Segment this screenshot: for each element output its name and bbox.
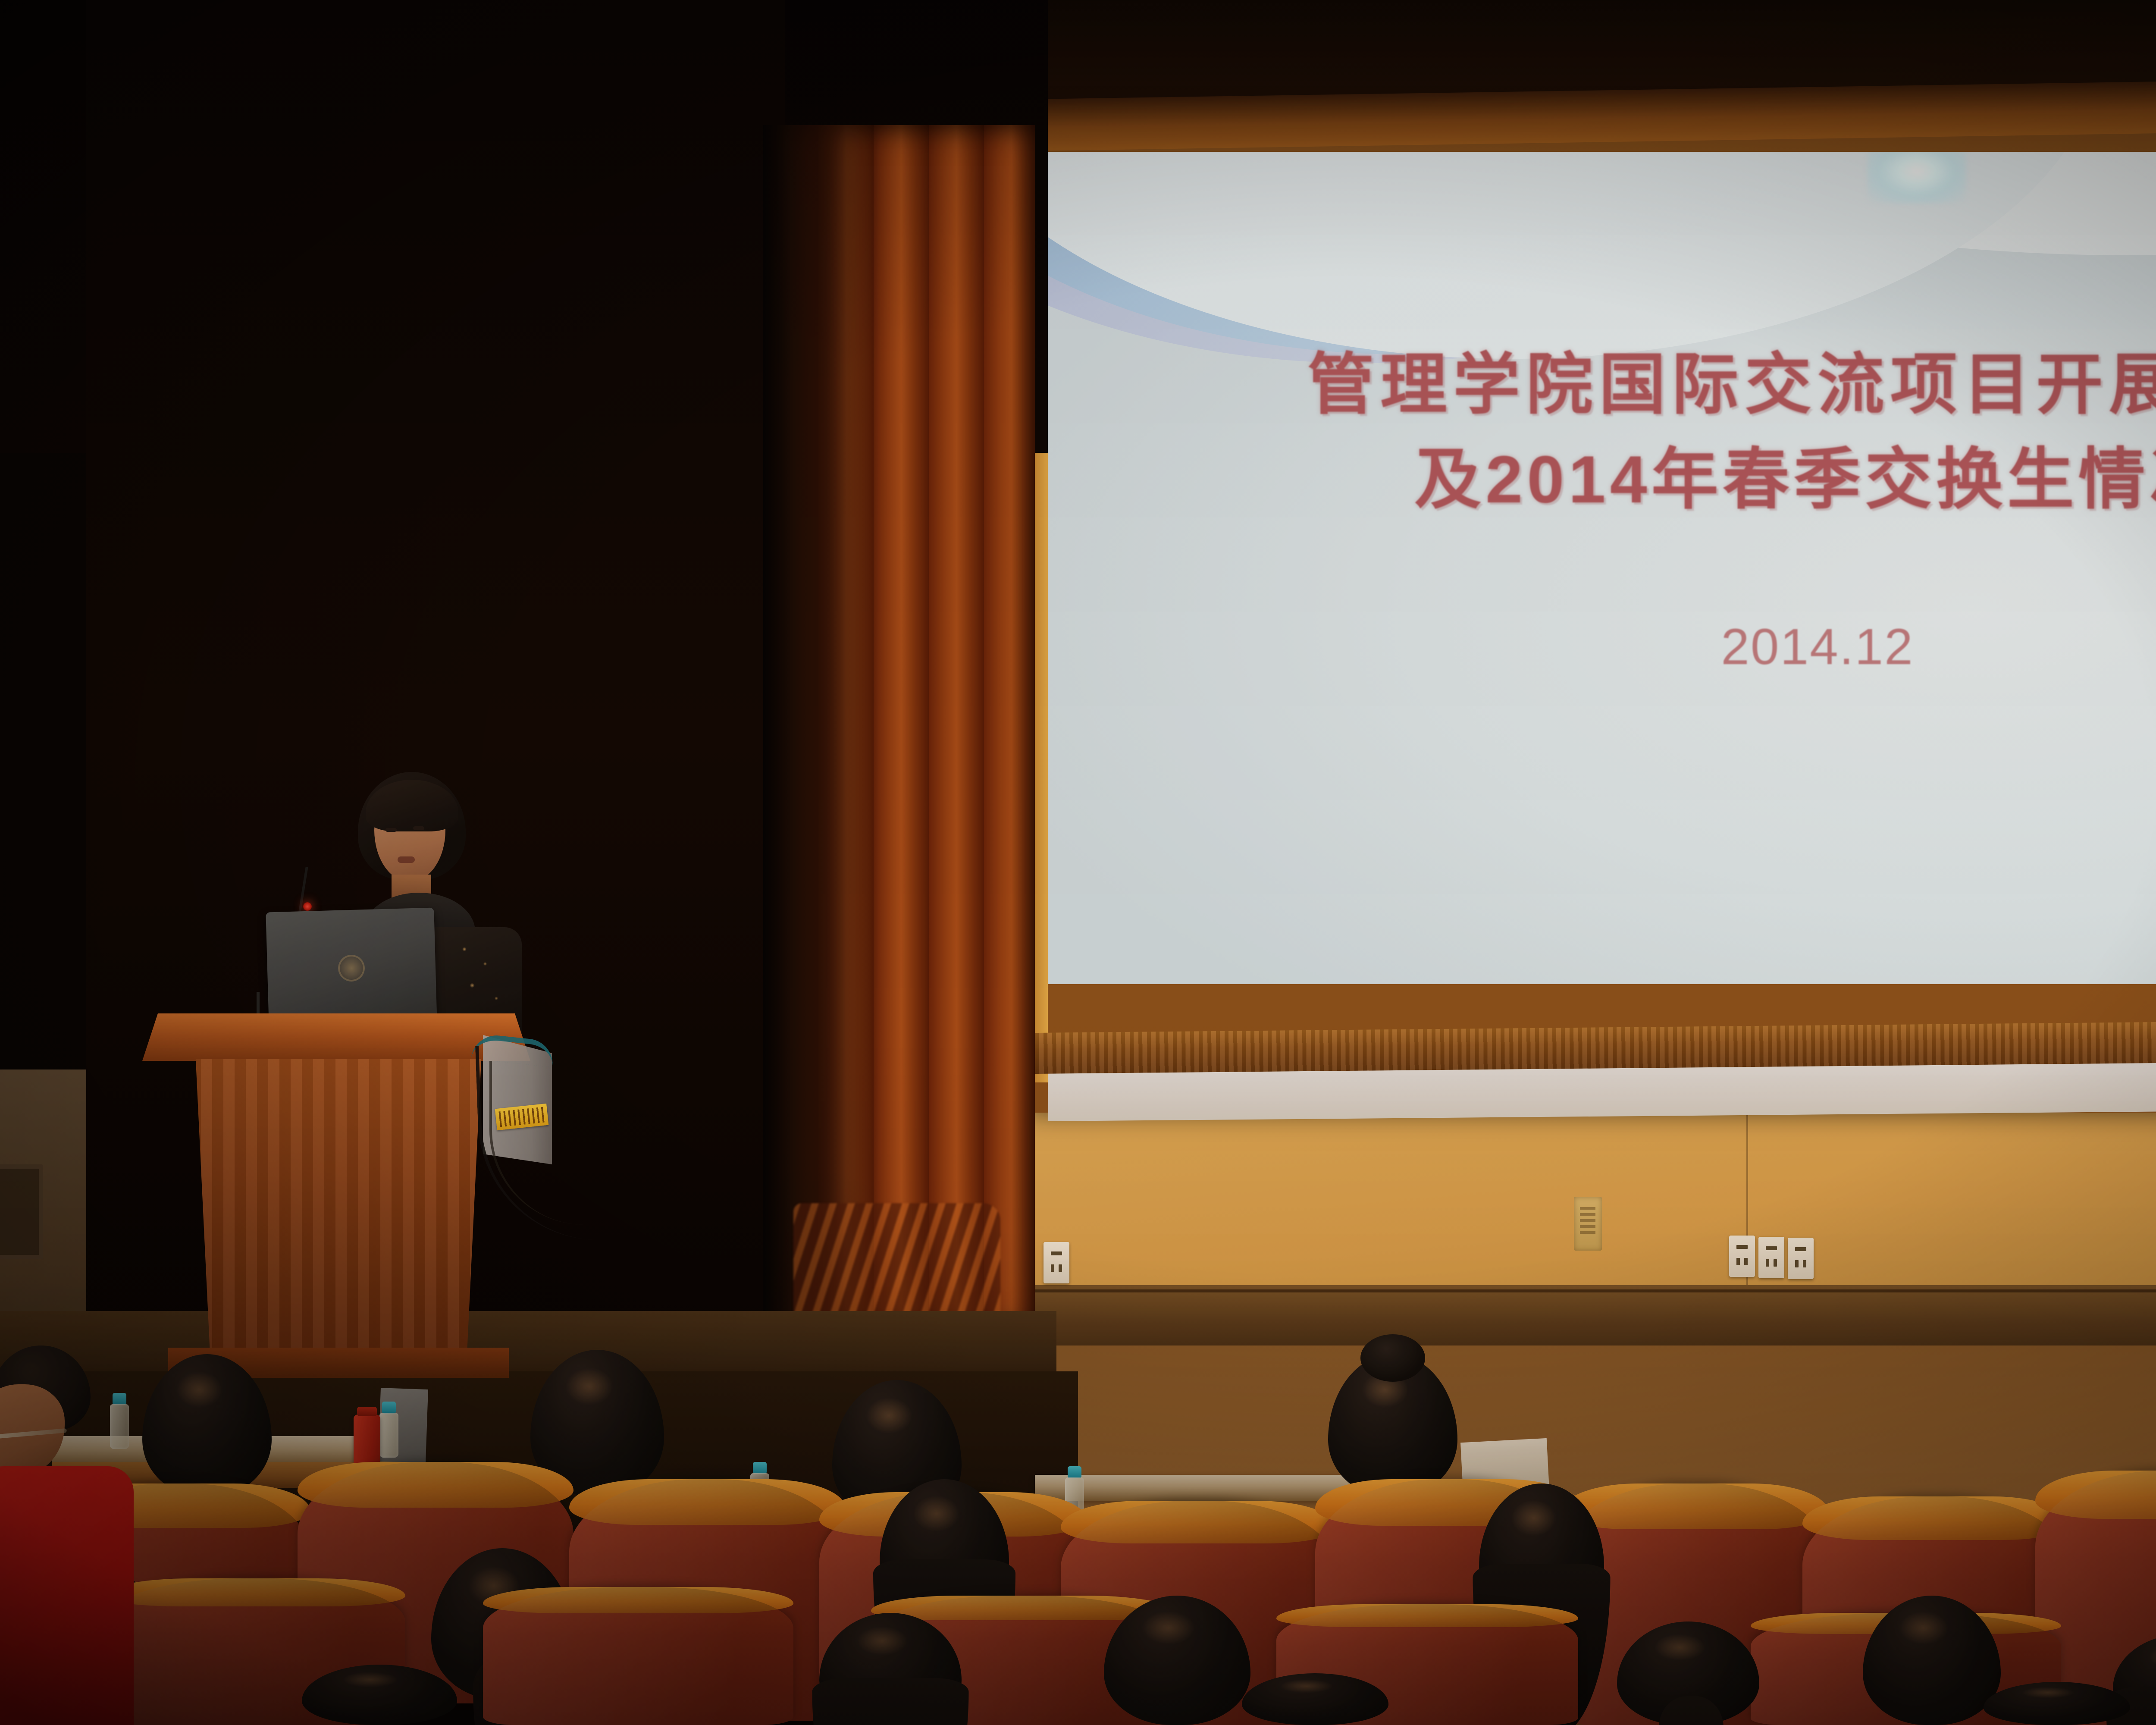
red-jacket-coat — [0, 1466, 134, 1725]
bottle-cap — [1068, 1466, 1081, 1478]
wall-plate-panel — [1574, 1197, 1602, 1251]
row-desk-ledge — [1035, 1475, 1363, 1501]
speaker-eye-right — [413, 826, 424, 830]
wall-power-outlet — [1729, 1236, 1755, 1277]
microphone-led-indicator — [303, 902, 312, 911]
bottle-cap — [382, 1402, 396, 1414]
bottle-cap — [753, 1462, 767, 1474]
auditorium-seat — [483, 1587, 793, 1725]
dell-laptop[interactable] — [266, 908, 437, 1029]
wall-dado-line — [992, 1289, 2156, 1292]
wall-mounted-box — [0, 1164, 43, 1259]
wall-power-outlet — [1788, 1238, 1814, 1279]
lectern-body: HUA UNIVERSITY 1951 — [190, 1059, 487, 1365]
bottle-body — [379, 1413, 398, 1458]
speaker-eye-left — [385, 828, 397, 832]
curtain-shadow-overlay — [763, 125, 880, 1333]
auditorium-presentation-scene: 管理学院国际交流项目开展概况 及2014年春季交换生情况 2014.12 — [0, 0, 2156, 1725]
speaker-mouth — [398, 856, 415, 863]
wall-power-outlet — [1044, 1242, 1069, 1283]
wall-power-outlet — [1758, 1237, 1784, 1278]
slide-title-line-1: 管理学院国际交流项目开展概况 — [1048, 337, 2156, 432]
wall-baseboard — [927, 1285, 2156, 1354]
slide-title-line-2: 及2014年春季交换生情况 — [1048, 432, 2156, 527]
water-bottle — [379, 1402, 398, 1458]
slide-date: 2014.12 — [1048, 618, 2156, 676]
audience-member-red-jacket — [0, 1345, 121, 1725]
projection-screen-surface: 管理学院国际交流项目开展概况 及2014年春季交换生情况 2014.12 — [1048, 152, 2156, 984]
slide-title-block: 管理学院国际交流项目开展概况 及2014年春季交换生情况 — [1048, 337, 2156, 527]
projector-hotspot-flare — [1867, 152, 1966, 204]
